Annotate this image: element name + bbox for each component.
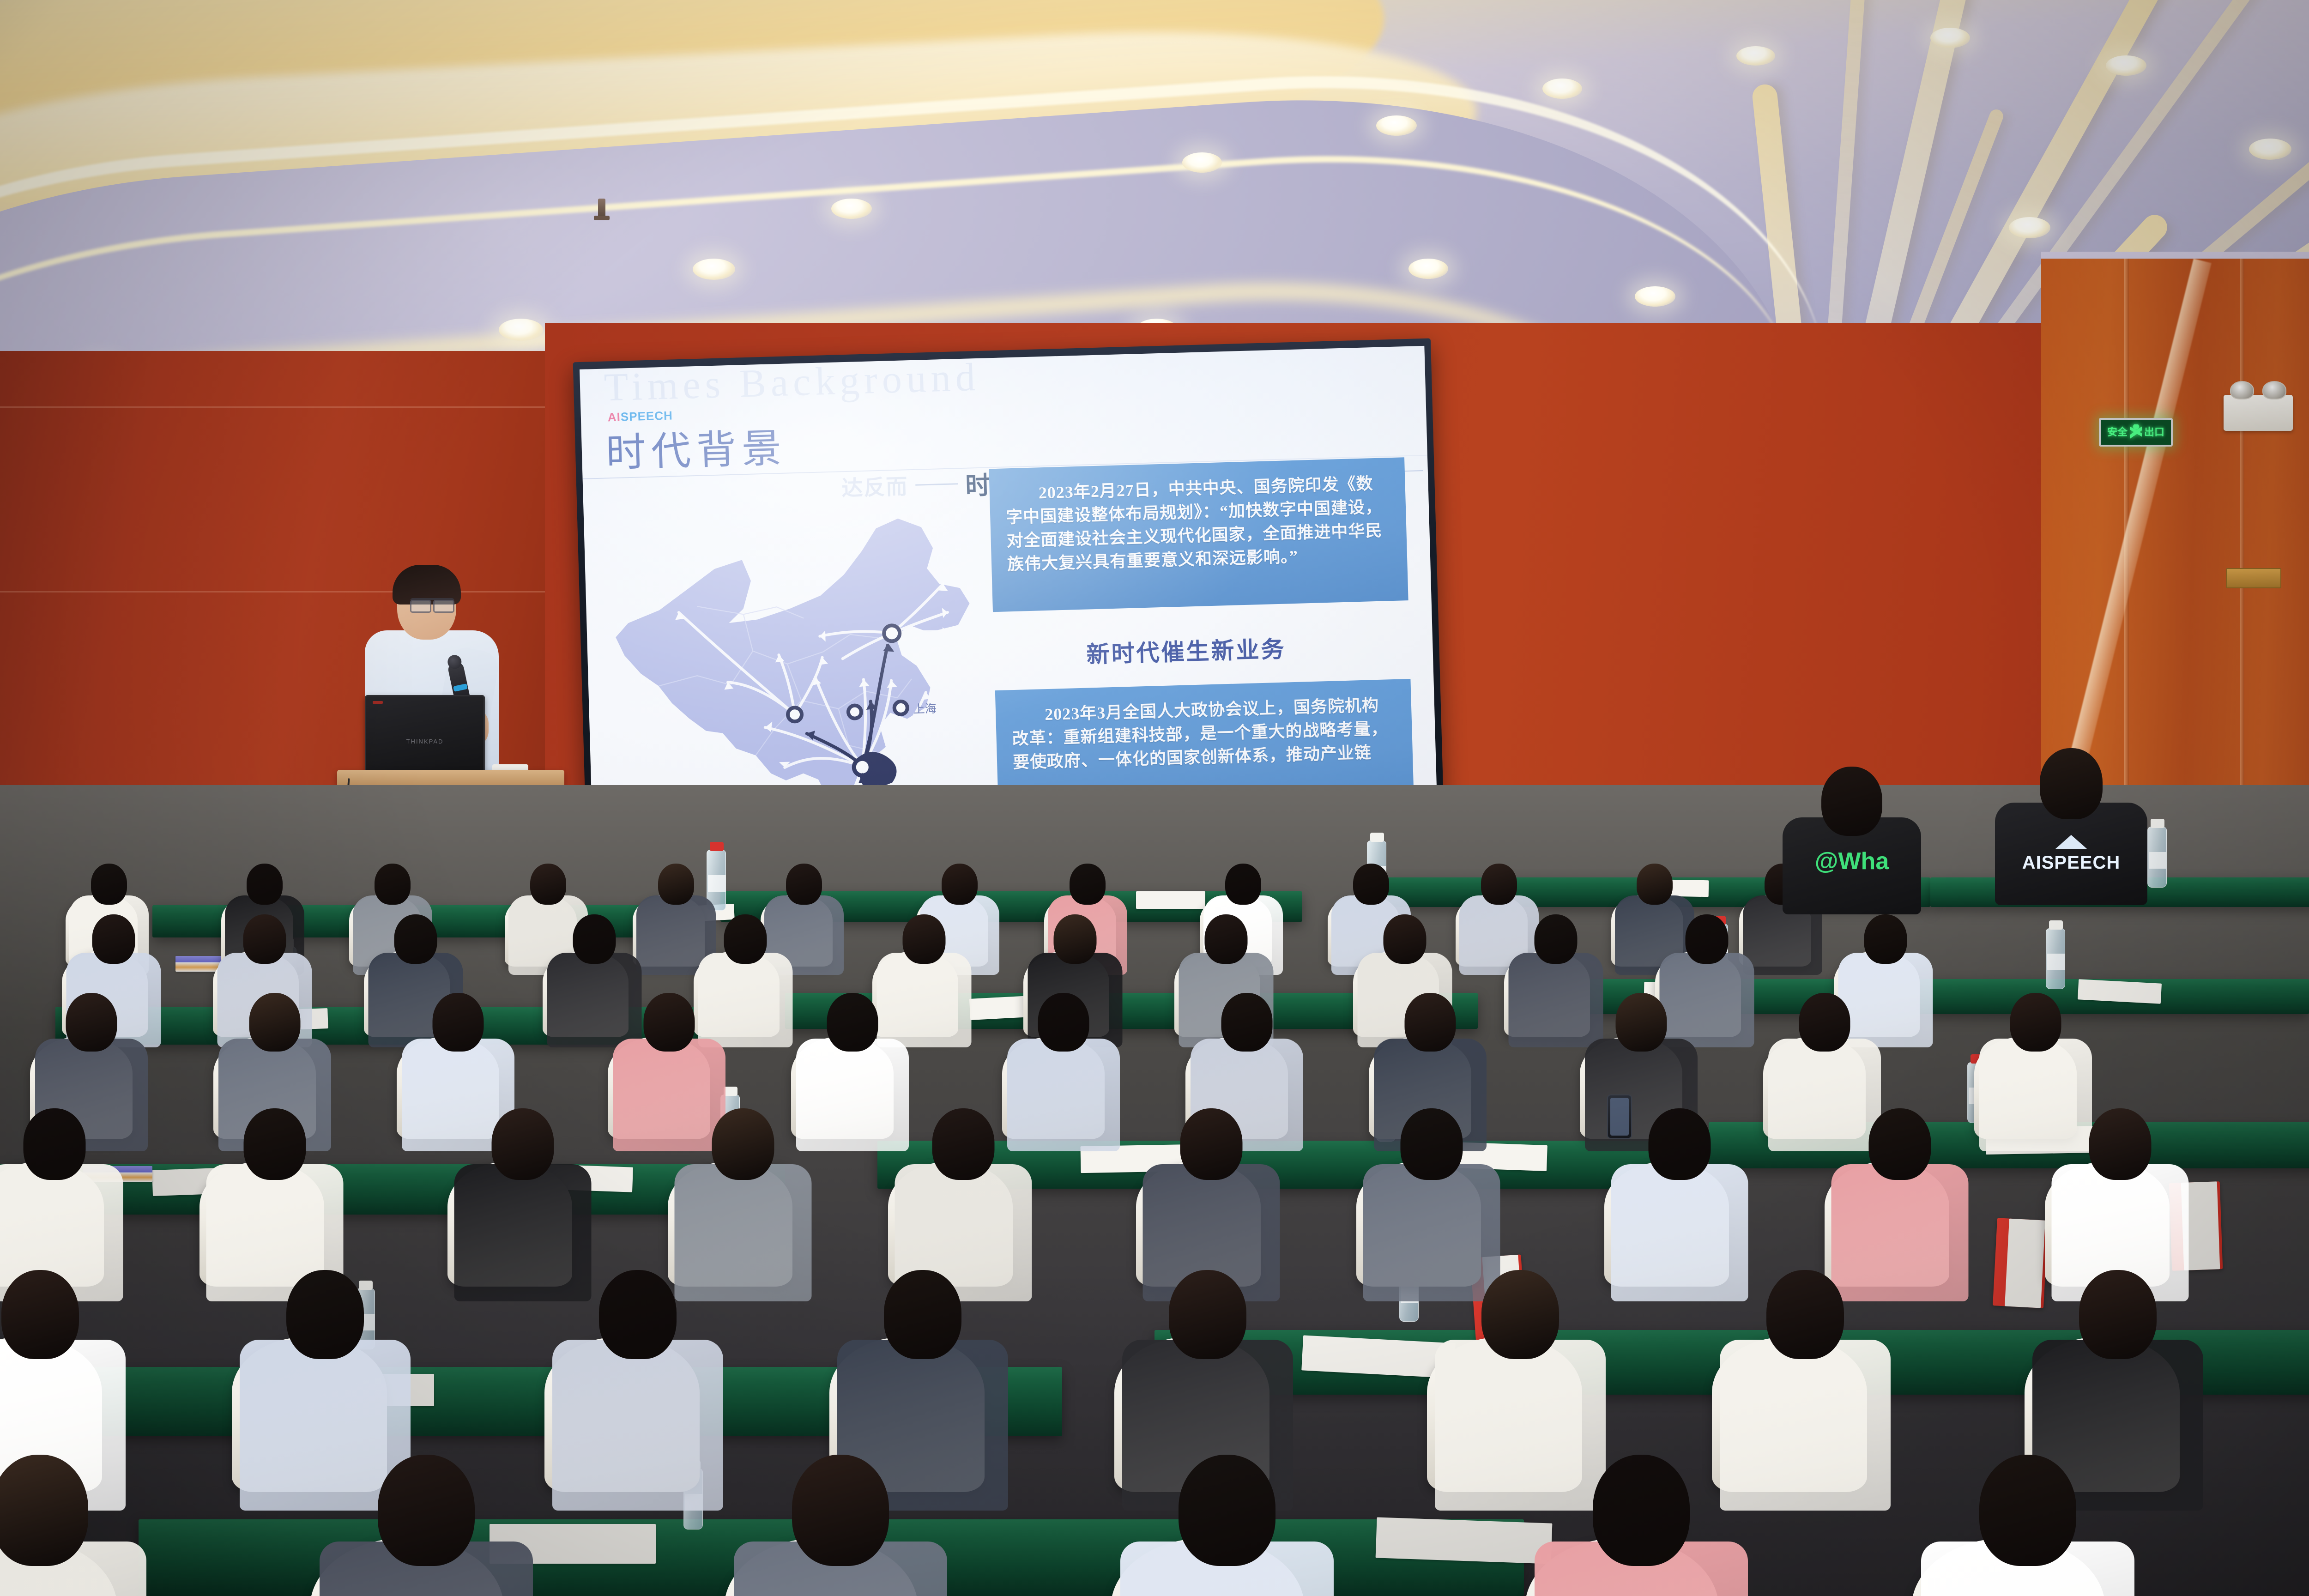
audience-head [1383, 914, 1426, 964]
audience-member-aispeech-shirt: AISPEECH [1995, 748, 2147, 905]
ceiling-downlight [2009, 217, 2050, 238]
ceiling-downlight [1376, 115, 1417, 136]
audience-member [552, 1270, 723, 1530]
ceiling-downlight [831, 199, 872, 219]
ceiling-downlight [1635, 286, 1675, 307]
audience-member [1120, 1455, 1334, 1596]
exit-sign-right-text: 出口 [2144, 427, 2164, 437]
audience-head [375, 864, 411, 905]
audience-head [1534, 914, 1577, 964]
bottle-cap [2049, 920, 2063, 930]
audience-head [1204, 914, 1247, 964]
audience-member [1921, 1455, 2134, 1596]
ceiling-downlight [499, 319, 543, 341]
ceiling-downlight [1542, 79, 1582, 99]
audience-head [243, 1108, 306, 1180]
section-dash-left [915, 483, 958, 486]
ceiling-downlight [2249, 139, 2291, 160]
audience-head [786, 864, 822, 905]
audience-head [884, 1270, 961, 1359]
ceiling-downlight [2106, 55, 2146, 76]
presenter-laptop[interactable]: THINKPAD [365, 695, 485, 772]
china-map-svg: 上海 深圳总部 [602, 492, 994, 826]
exit-sign-left-text: 安全 [2107, 427, 2128, 437]
audience-head [1, 1270, 79, 1359]
laptop-brand-mark [373, 701, 383, 704]
shirt-logo-text: @Wha [1815, 847, 1889, 875]
china-landmass [613, 517, 975, 815]
audience-head [23, 1108, 85, 1180]
audience-head [0, 1455, 88, 1566]
audience-head [712, 1108, 774, 1180]
map-label-shanghai: 上海 [913, 702, 937, 716]
sprinkler-head [598, 199, 605, 217]
slide-subheading: 新时代催生新业务 [1086, 631, 1287, 670]
slide-title: 时代背景 [605, 416, 787, 478]
audience-head [1225, 864, 1261, 905]
audience-head [942, 864, 978, 905]
audience-head [1481, 1270, 1559, 1359]
ceiling-downlight [1408, 259, 1448, 279]
audience-head [1799, 993, 1850, 1052]
audience-head [2010, 993, 2061, 1052]
audience-head [1481, 864, 1517, 905]
audience-head [66, 993, 117, 1052]
audience-head [378, 1455, 475, 1566]
audience-head [1979, 1455, 2076, 1566]
policy-quote-box-1: 2023年2月27日，中共中央、国务院印发《数字中国建设整体布局规划》：“加快数… [989, 457, 1408, 612]
audience-head [1169, 1270, 1246, 1359]
audience-head [573, 914, 616, 964]
audience-head [2040, 748, 2103, 819]
mobile-phone [1607, 1094, 1632, 1139]
audience-head [1868, 1108, 1931, 1180]
bottle-cap [1370, 833, 1384, 842]
bottle-label [2149, 852, 2166, 869]
audience-head [1637, 864, 1673, 905]
china-map: 上海 深圳总部 [602, 492, 994, 826]
audience-head [1405, 993, 1456, 1052]
exit-sign: 安全 出口 [2099, 418, 2173, 447]
ceiling-downlight [1182, 152, 1222, 173]
audience-head [1685, 914, 1728, 964]
audience-head [1821, 767, 1882, 836]
slide-surface: Times Background AISPEECH 时代背景 达反而 时代发展，… [580, 346, 1438, 840]
audience-head [1400, 1108, 1463, 1180]
audience-head [658, 864, 694, 905]
bottle-cap [2151, 819, 2164, 828]
audience-head [644, 993, 695, 1052]
audience-head [1353, 864, 1389, 905]
audience-head [91, 864, 127, 905]
water-bottle [2147, 827, 2167, 888]
running-man-icon [2130, 424, 2142, 440]
audience-head [1070, 864, 1106, 905]
audience-member [0, 1455, 146, 1596]
laptop-label: THINKPAD [406, 738, 444, 745]
audience-head [2089, 1108, 2151, 1180]
ceiling-downlight [1736, 46, 1775, 66]
audience-head [724, 914, 767, 964]
table-paper [1136, 891, 1205, 909]
water-bottle [2046, 928, 2065, 989]
audience-head [792, 1455, 889, 1566]
audience-head [491, 1108, 554, 1180]
ceiling-downlight [693, 259, 735, 280]
audience-member [796, 993, 909, 1164]
audience-head [1766, 1270, 1844, 1359]
audience-head [932, 1108, 994, 1180]
audience-head [1616, 993, 1667, 1052]
audience-head [530, 864, 566, 905]
bottle-cap [724, 1087, 737, 1096]
audience-head [827, 993, 878, 1052]
audience-head [1053, 914, 1096, 964]
audience-head [1593, 1455, 1690, 1566]
audience-head [1179, 1455, 1275, 1566]
audience-head [286, 1270, 364, 1359]
audience-head [243, 914, 286, 964]
audience-head [249, 993, 301, 1052]
audience-head [92, 914, 135, 964]
emergency-light [2224, 395, 2293, 431]
audience-member-green-logo-shirt: @Wha [1783, 767, 1921, 914]
audience-member [734, 1455, 947, 1596]
bottle-cap [710, 842, 724, 851]
audience-head [902, 914, 945, 964]
audience-torso [552, 1340, 723, 1511]
glasses-icon [410, 598, 454, 608]
audience-member [1535, 1455, 1748, 1596]
audience-head [599, 1270, 677, 1359]
audience-member [320, 1455, 533, 1596]
audience-head [1648, 1108, 1711, 1180]
audience-head [1864, 914, 1907, 964]
audience-head [433, 993, 484, 1052]
audience-head [1221, 993, 1273, 1052]
projection-screen: Times Background AISPEECH 时代背景 达反而 时代发展，… [580, 346, 1438, 840]
audience-head [247, 864, 283, 905]
mountain-logo-icon [2055, 835, 2087, 849]
conference-room-photo: 安全 出口 Times Background AISPEECH 时代背景 达反而… [0, 0, 2309, 1596]
wall-plaque [2226, 568, 2281, 588]
audience-head [1180, 1108, 1242, 1180]
bottle-label [2047, 954, 2065, 970]
audience-head [1038, 993, 1089, 1052]
audience-torso [796, 1039, 909, 1151]
audience-head [2079, 1270, 2157, 1359]
audience-head [394, 914, 437, 964]
ceiling-downlight [1930, 28, 1970, 48]
shirt-brand-text: AISPEECH [2022, 852, 2121, 873]
